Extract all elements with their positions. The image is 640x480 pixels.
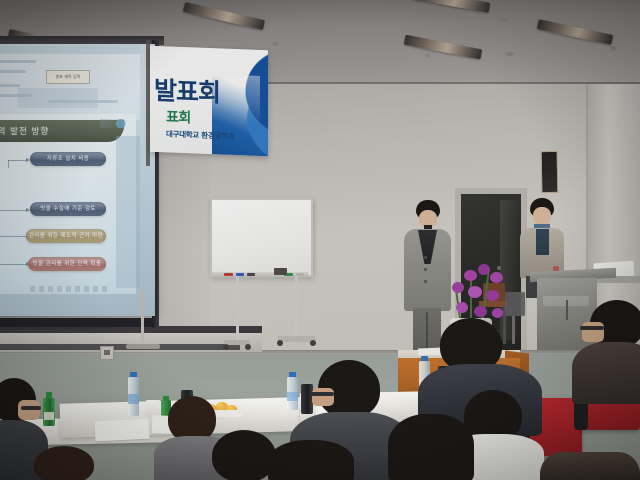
audience-head [388, 414, 474, 480]
ceiling-light-fixture [412, 0, 491, 13]
banner-organization: 대구대학교 환경공학과 [166, 128, 262, 144]
projection-screen: 발표 제목 입력 으로의 발전 방향 [0, 36, 164, 326]
base-cabinet-shadow [0, 344, 240, 350]
whiteboard-marker-tray [212, 272, 308, 278]
audience-face [582, 322, 604, 342]
orchid-bloom [486, 290, 499, 301]
ceiling-vent [425, 54, 430, 57]
lectern-small-object [553, 266, 559, 271]
audience-head [212, 430, 276, 480]
water-bottle [286, 372, 298, 410]
slide-item-pill: 빗물 수질에 기준 검토 [30, 202, 106, 216]
orchid-bloom [490, 272, 503, 283]
slide-item-pill: 저류조 설치 비용 [30, 152, 106, 166]
orchid-bloom [468, 286, 482, 298]
audience-shoulders [572, 342, 640, 404]
projected-window-titlebar [0, 46, 140, 54]
orchid-bloom [452, 282, 464, 293]
photo-scene: 발표 제목 입력 으로의 발전 방향 [0, 0, 640, 480]
whiteboard-base [278, 336, 316, 342]
audience-member [584, 300, 640, 404]
wall-outlet [100, 346, 114, 360]
ceiling-light-fixture [183, 2, 265, 30]
audience-face [312, 388, 334, 406]
wall-speaker-icon [541, 151, 559, 193]
orchid-bloom [492, 308, 503, 318]
ceiling-vent [505, 52, 514, 56]
audience-member [34, 446, 98, 480]
eyeglasses-icon [310, 392, 334, 396]
audience-head [34, 446, 94, 480]
slide-logo-icon [100, 119, 126, 128]
water-bottle [127, 372, 139, 416]
ceiling-light-fixture [404, 35, 482, 60]
projected-window: 발표 제목 입력 [0, 46, 140, 120]
screen-bottom-bar [0, 318, 154, 327]
ceiling-vent [272, 42, 279, 46]
slide-item-pill: 관리를 위한 제도적 근거 마련 [26, 229, 106, 243]
ceiling-vent [610, 46, 617, 51]
projected-panel [18, 88, 98, 108]
orchid-bloom [474, 306, 487, 317]
eyeglasses-icon [21, 406, 41, 410]
whiteboard-leg [236, 276, 239, 342]
caster-wheel [310, 340, 316, 346]
banner-title: 발표회 [154, 76, 258, 110]
slide-footer-strip [30, 286, 110, 292]
screen-stand-pole [141, 290, 144, 348]
orchid-bloom [464, 270, 477, 281]
speaker-inner-shirt [536, 229, 549, 255]
ceiling-light-fixture [537, 19, 613, 45]
caster-wheel [277, 340, 283, 346]
caster-wheel [223, 344, 229, 350]
audience-face [18, 400, 40, 420]
audience-member [268, 440, 354, 480]
audience-member [388, 414, 474, 480]
screen-surface: 발표 제목 입력 으로의 발전 방향 [0, 44, 155, 316]
event-banner: 발표회 표회 대구대학교 환경공학과 [150, 46, 268, 157]
slide-right-column [116, 136, 140, 288]
presentation-slide: 으로의 발전 방향 저류조 설치 비용 빗물 수질에 기준 검토 관리를 위한 … [0, 114, 136, 294]
screen-stand-foot [126, 344, 160, 349]
whiteboard [210, 198, 313, 277]
audience-head [268, 440, 354, 480]
orchid-bloom [478, 264, 490, 275]
audience-head [540, 452, 640, 480]
caster-wheel [245, 344, 251, 350]
papers-on-table [95, 419, 150, 442]
eyeglasses-icon [580, 326, 604, 330]
base-cabinet-shadow [0, 326, 262, 333]
orchid-bloom [456, 302, 468, 313]
whiteboard-base [224, 340, 250, 345]
slide-item-pill: 빗물 관리를 위한 인력 확충 [28, 257, 106, 271]
whiteboard-leg [295, 276, 298, 342]
lectern-microphone-icon [566, 300, 568, 320]
projected-input-value: 발표 제목 입력 [48, 72, 88, 81]
audience-member [540, 452, 640, 480]
ceiling-vent [500, 18, 508, 22]
banner-subtitle: 표회 [166, 108, 258, 130]
whiteboard-eraser [274, 268, 287, 275]
